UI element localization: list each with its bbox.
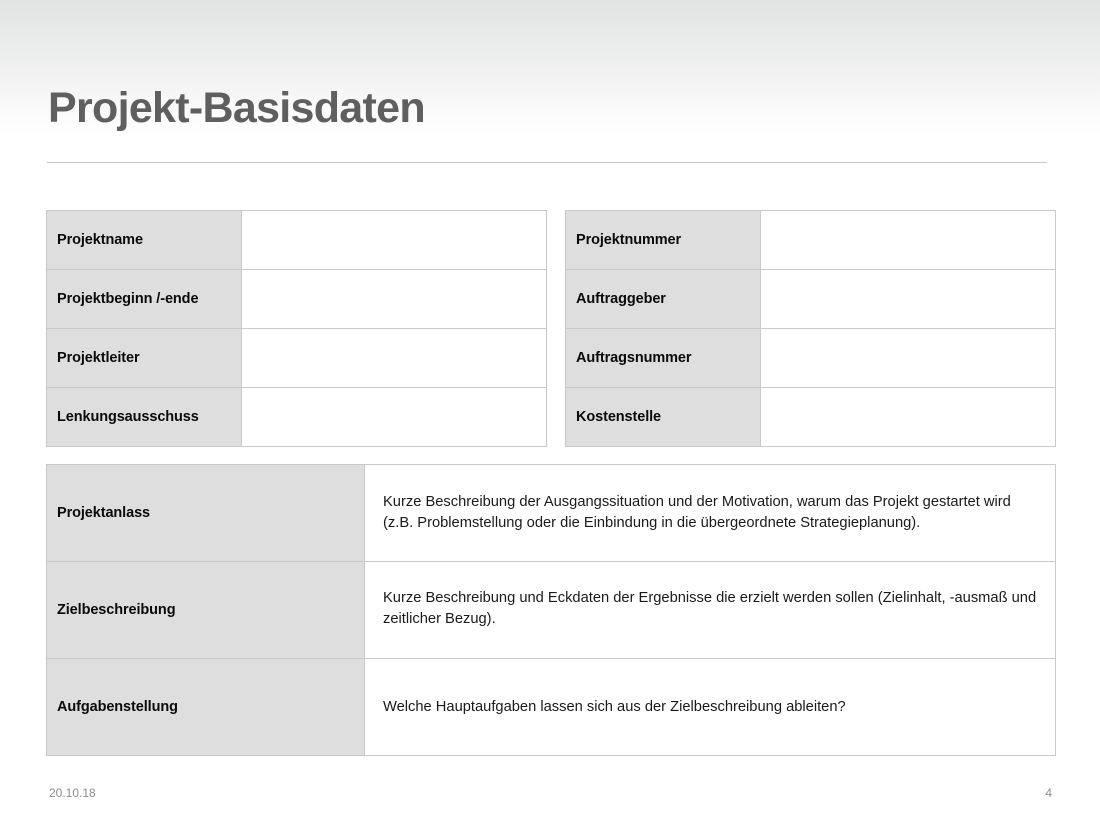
footer-date: 20.10.18 xyxy=(49,786,96,800)
footer-page-number: 4 xyxy=(1030,786,1052,800)
field-value-projektbeginn-ende[interactable] xyxy=(242,270,547,329)
field-value-auftragsnummer[interactable] xyxy=(761,329,1056,388)
table-row: Aufgabenstellung Welche Hauptaufgaben la… xyxy=(47,659,1056,756)
field-label-zielbeschreibung: Zielbeschreibung xyxy=(47,562,365,659)
field-description-zielbeschreibung[interactable]: Kurze Beschreibung und Eckdaten der Erge… xyxy=(365,562,1056,659)
table-row: Zielbeschreibung Kurze Beschreibung und … xyxy=(47,562,1056,659)
field-label-projektleiter: Projektleiter xyxy=(47,329,242,388)
field-value-projektnummer[interactable] xyxy=(761,211,1056,270)
project-basics-right-table: Projektnummer Auftraggeber Auftragsnumme… xyxy=(565,210,1056,447)
field-label-auftragsnummer: Auftragsnummer xyxy=(566,329,761,388)
field-label-lenkungsausschuss: Lenkungsausschuss xyxy=(47,388,242,447)
table-row: Kostenstelle xyxy=(566,388,1056,447)
field-description-projektanlass[interactable]: Kurze Beschreibung der Ausgangssituation… xyxy=(365,465,1056,562)
field-description-aufgabenstellung[interactable]: Welche Hauptaufgaben lassen sich aus der… xyxy=(365,659,1056,756)
field-label-projektanlass: Projektanlass xyxy=(47,465,365,562)
table-row: Projektanlass Kurze Beschreibung der Aus… xyxy=(47,465,1056,562)
page-title: Projekt-Basisdaten xyxy=(48,87,425,130)
table-row: Projektname xyxy=(47,211,547,270)
title-divider xyxy=(47,162,1047,163)
table-row: Projektnummer xyxy=(566,211,1056,270)
field-label-aufgabenstellung: Aufgabenstellung xyxy=(47,659,365,756)
table-row: Lenkungsausschuss xyxy=(47,388,547,447)
field-label-projektname: Projektname xyxy=(47,211,242,270)
table-row: Auftraggeber xyxy=(566,270,1056,329)
project-description-table: Projektanlass Kurze Beschreibung der Aus… xyxy=(46,464,1056,756)
field-value-lenkungsausschuss[interactable] xyxy=(242,388,547,447)
field-label-kostenstelle: Kostenstelle xyxy=(566,388,761,447)
field-value-projektname[interactable] xyxy=(242,211,547,270)
field-label-auftraggeber: Auftraggeber xyxy=(566,270,761,329)
table-row: Projektleiter xyxy=(47,329,547,388)
field-value-auftraggeber[interactable] xyxy=(761,270,1056,329)
project-basics-left-table: Projektname Projektbeginn /-ende Projekt… xyxy=(46,210,547,447)
field-value-kostenstelle[interactable] xyxy=(761,388,1056,447)
field-label-projektnummer: Projektnummer xyxy=(566,211,761,270)
table-row: Auftragsnummer xyxy=(566,329,1056,388)
field-value-projektleiter[interactable] xyxy=(242,329,547,388)
table-row: Projektbeginn /-ende xyxy=(47,270,547,329)
field-label-projektbeginn-ende: Projektbeginn /-ende xyxy=(47,270,242,329)
